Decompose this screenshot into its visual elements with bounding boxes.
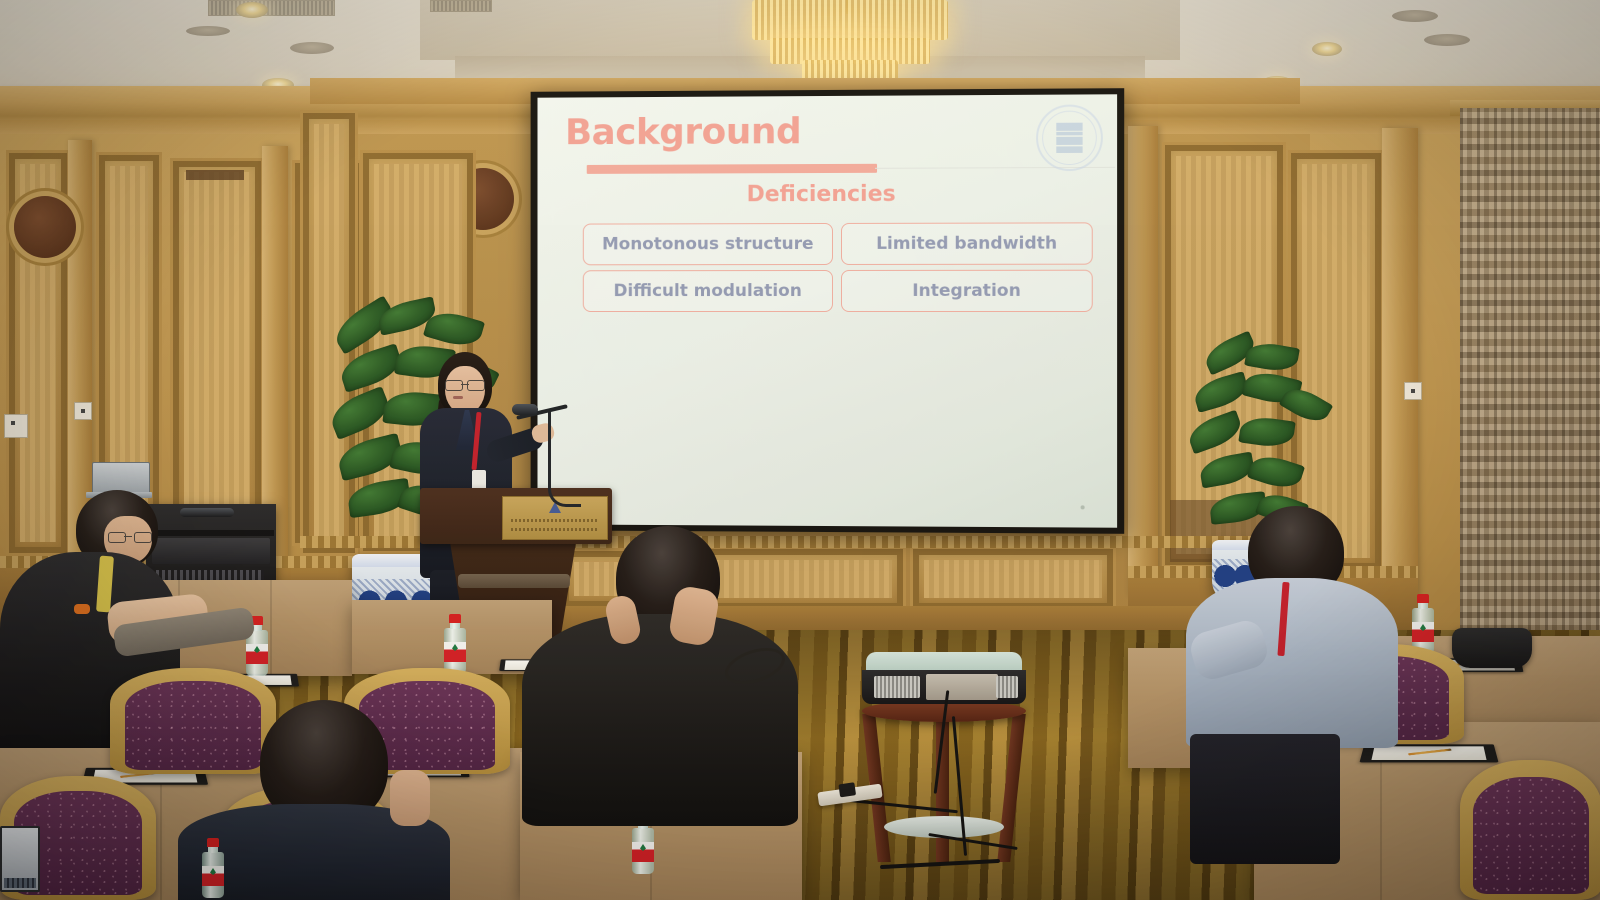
projector-rear-face	[862, 670, 1026, 704]
plant-leaf	[1198, 452, 1256, 489]
bottle-cap	[1417, 594, 1429, 603]
laptop-taskbar	[4, 878, 36, 888]
wall-outlet	[4, 414, 28, 438]
glasses-right-lens	[467, 380, 485, 391]
nameplate-text-line	[511, 519, 599, 522]
attendee-bag	[1452, 628, 1532, 668]
slide-box-row-1: Monotonous structure Limited bandwidth	[583, 222, 1097, 265]
table-leg	[997, 714, 1026, 862]
slide-box-row-2: Difficult modulation Integration	[583, 270, 1097, 312]
slide-subtitle: Deficiencies	[537, 181, 1117, 208]
presenter-name-badge	[472, 470, 486, 490]
banquet-chair[interactable]	[1460, 760, 1600, 900]
bottle-neck	[1418, 602, 1428, 609]
chandelier-tier	[752, 0, 948, 40]
panel-inlay	[924, 560, 1102, 598]
slide-title-underline	[587, 164, 877, 174]
attendee-lower-body	[1190, 734, 1340, 864]
plant-leaf	[1185, 410, 1245, 455]
bottle-neck	[208, 846, 218, 853]
plant-leaf	[1238, 414, 1295, 449]
downlight-icon	[236, 2, 268, 18]
downlight-icon	[1312, 42, 1342, 56]
glasses-right-lens	[134, 532, 152, 543]
slide-box-integration: Integration	[841, 270, 1093, 312]
wall-outlet	[74, 402, 92, 420]
crystal-chandelier	[752, 0, 948, 84]
glasses-left-lens	[445, 380, 463, 391]
presentation-slide: Background Deficiencies Monotonous struc…	[537, 94, 1117, 527]
projector-vent	[874, 676, 920, 698]
ceiling-speaker	[290, 42, 334, 54]
power-plug	[838, 782, 856, 797]
projection-screen-frame: Background Deficiencies Monotonous struc…	[531, 88, 1125, 534]
ceiling-vent-grille	[430, 0, 492, 12]
university-seal-logo-icon	[1036, 104, 1103, 171]
glasses-icon	[445, 380, 485, 389]
ceiling-vent-grille	[208, 0, 335, 16]
presenter-mouth	[453, 396, 463, 399]
ceiling-sprinkler	[186, 26, 230, 36]
ceiling-sprinkler	[1424, 34, 1470, 46]
attendee-hand	[390, 770, 430, 826]
wall-pilaster	[262, 146, 288, 566]
chair-upholstery	[1473, 777, 1589, 895]
microphone-gooseneck	[548, 412, 581, 507]
tablecloth-fold	[270, 580, 272, 676]
slide-box-monotonous-structure: Monotonous structure	[583, 223, 833, 265]
plant-leaf	[1247, 451, 1305, 494]
attendee-right	[1186, 506, 1402, 866]
attendee-laptop[interactable]	[0, 826, 40, 892]
conference-room-photo: Background Deficiencies Monotonous struc…	[0, 0, 1600, 900]
bottle-neck	[450, 622, 460, 629]
seal-glyph-icon	[1056, 123, 1082, 153]
projector-vent	[996, 676, 1018, 698]
slide-title: Background	[565, 111, 801, 153]
projector-port-panel	[926, 674, 998, 700]
attendee-wristband	[74, 604, 90, 614]
slide-box-limited-bandwidth: Limited bandwidth	[841, 222, 1093, 265]
panel-inlay	[184, 172, 250, 542]
screen-corner-marker	[1081, 505, 1085, 509]
wall-panel-low	[910, 546, 1116, 612]
glasses-bridge	[124, 536, 132, 537]
attendee-black-shirt	[522, 614, 798, 826]
wall-medallion	[14, 196, 76, 258]
wall-switch[interactable]	[1404, 382, 1422, 400]
glasses-left-lens	[108, 532, 126, 543]
wall-pilaster	[1128, 126, 1158, 596]
slide-box-difficult-modulation: Difficult modulation	[583, 270, 833, 312]
ceiling-speaker	[1392, 10, 1438, 22]
panel-accent	[186, 170, 244, 180]
bottle-cap	[449, 614, 461, 623]
glasses-icon	[108, 532, 152, 541]
gooseneck-microphone	[512, 404, 538, 415]
bottle-cap	[207, 838, 219, 847]
